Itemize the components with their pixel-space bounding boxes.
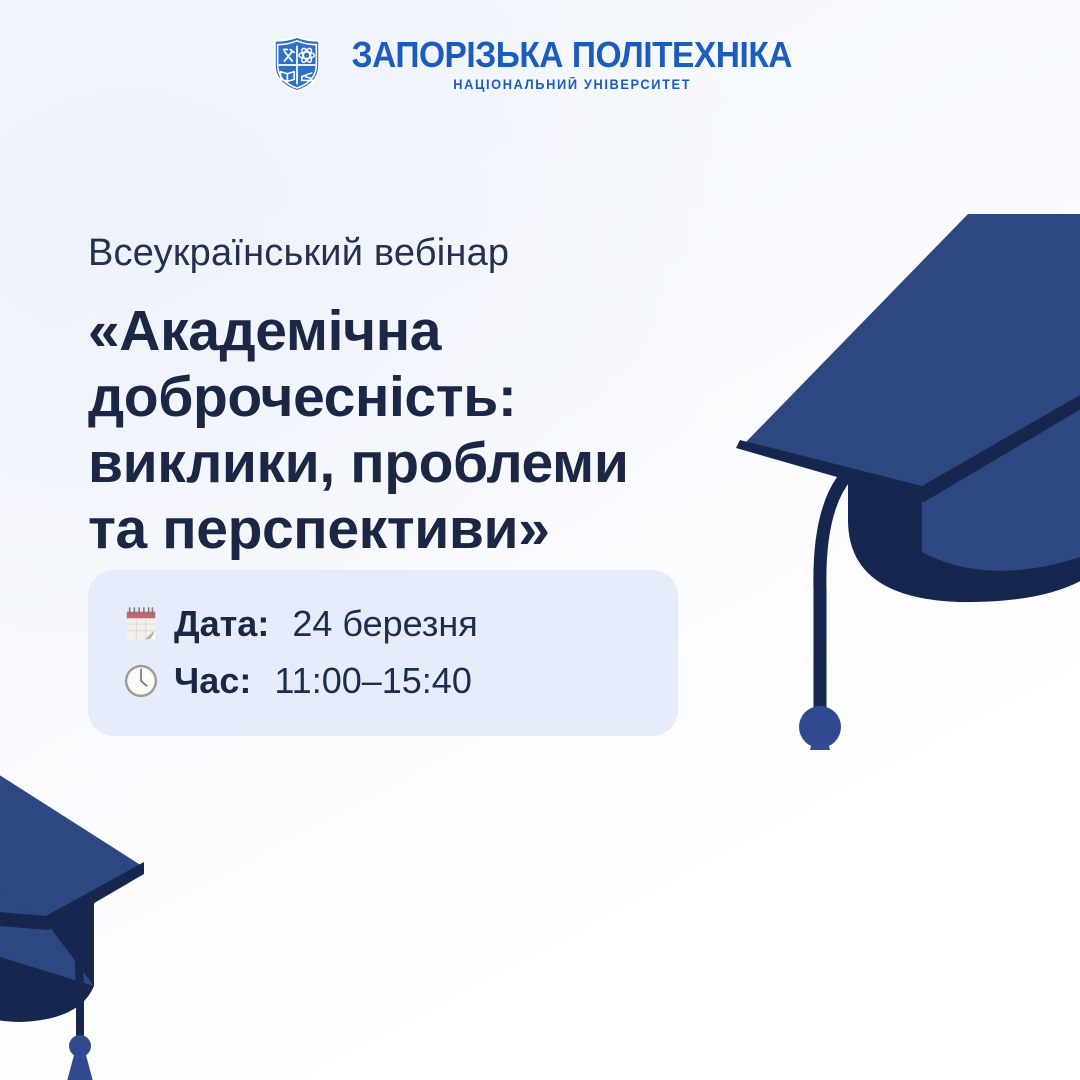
poster-canvas: ЗАПОРІЗЬКА ПОЛІТЕХНІКА НАЦІОНАЛЬНИЙ УНІВ…: [0, 0, 1080, 1080]
event-title-line: «Академічна: [88, 298, 728, 364]
event-time-row: Час: 11:00–15:40: [122, 655, 644, 706]
university-shield-icon: [271, 36, 323, 92]
event-title-line: та перспективи»: [88, 496, 728, 562]
event-eyebrow: Всеукраїнський вебінар: [88, 232, 728, 276]
graduation-cap-left-icon: [0, 770, 200, 1080]
event-title: «Академічна доброчесність: виклики, проб…: [88, 298, 728, 562]
event-title-line: доброчесність:: [88, 364, 728, 430]
event-date-label: Дата:: [174, 598, 269, 649]
event-date-value: 24 березня: [292, 598, 477, 649]
logo-university-subtitle: НАЦІОНАЛЬНИЙ УНІВЕРСИТЕТ: [453, 78, 691, 92]
graduation-cap-right-icon: [700, 190, 1080, 750]
event-time-value: 11:00–15:40: [274, 655, 472, 706]
event-title-line: виклики, проблеми: [88, 430, 728, 496]
logo-university-name: ЗАПОРІЗЬКА ПОЛІТЕХНІКА: [352, 37, 792, 73]
spiral-notepad-emoji-icon: [122, 605, 160, 643]
event-time-label: Час:: [174, 655, 251, 706]
announcement-block: Всеукраїнський вебінар «Академічна добро…: [88, 232, 728, 562]
event-details-card: Дата: 24 березня Час: 11:00–15:40: [88, 570, 678, 736]
clock-face-emoji-icon: [122, 662, 160, 700]
university-logo: ЗАПОРІЗЬКА ПОЛІТЕХНІКА НАЦІОНАЛЬНИЙ УНІВ…: [0, 36, 1080, 92]
event-date-row: Дата: 24 березня: [122, 598, 644, 649]
logo-wordmark: ЗАПОРІЗЬКА ПОЛІТЕХНІКА НАЦІОНАЛЬНИЙ УНІВ…: [335, 37, 809, 92]
